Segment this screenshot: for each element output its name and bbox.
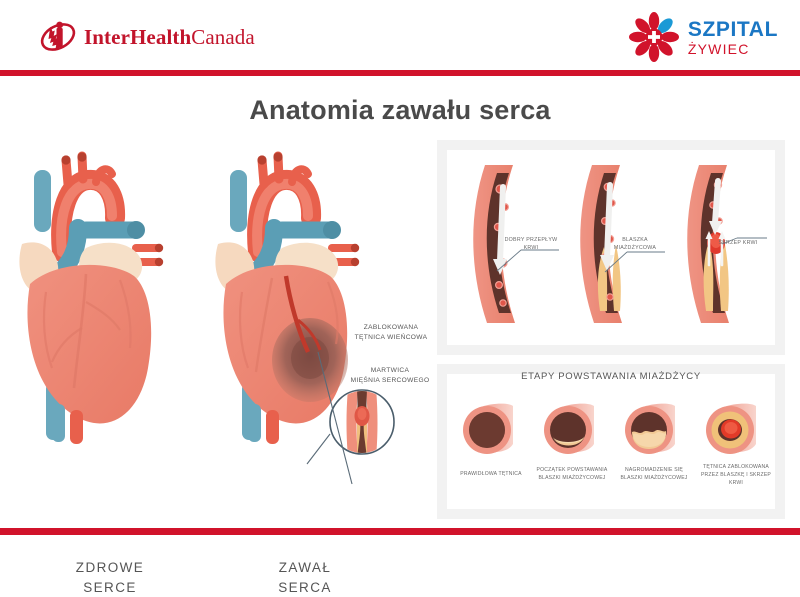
- necrosis-label-line2: MIĘŚNIA SERCOWEGO: [340, 376, 440, 386]
- healthy-caption-line2: SERCE: [20, 578, 200, 597]
- blocked-artery-label-line2: TĘTNICA WIEŃCOWA: [343, 333, 439, 343]
- hearts-section: ZDROWE SERCE ZAWAŁ SERCA: [0, 140, 440, 500]
- blocked-artery-label-line1: ZABLOKOWANA: [343, 323, 439, 333]
- plaque-line1: BLASZKA: [607, 236, 663, 244]
- page-title: Anatomia zawału serca: [0, 95, 800, 126]
- logo-word-light: Canada: [191, 25, 255, 49]
- necrosis-label-line1: MARTWICA: [340, 366, 440, 376]
- label-blood-clot: SKRZEP KRWI: [712, 239, 764, 247]
- normal-artery-cross-section: [463, 404, 513, 454]
- infarct-heart-caption: ZAWAŁ SERCA: [215, 558, 395, 597]
- plaque-buildup-cross-section: [625, 404, 675, 454]
- label-atherosclerotic-plaque: BLASZKA MIAŻDŻYCOWA: [607, 236, 663, 252]
- blocked-artery-cross-section: [706, 404, 756, 454]
- good-flow-line1: DOBRY PRZEPŁYW: [500, 236, 562, 244]
- szpital-logo-line1: SZPITAL: [688, 19, 778, 40]
- plaque-line2: MIAŻDŻYCOWA: [607, 244, 663, 252]
- early-plaque-cross-section: [544, 404, 594, 454]
- label-blocked-artery: TĘTNICA ZABLOKOWANA PRZEZ BLASZKĘ I SKRZ…: [694, 463, 778, 487]
- label-good-blood-flow: DOBRY PRZEPŁYW KRWI: [500, 236, 562, 252]
- healthy-caption-line1: ZDROWE: [20, 558, 200, 578]
- szpital-zywiec-logo: SZPITAL ŻYWIEC: [629, 12, 778, 62]
- label-blocked-coronary-artery: ZABLOKOWANA TĘTNICA WIEŃCOWA: [343, 323, 439, 343]
- szpital-logo-text: SZPITAL ŻYWIEC: [688, 19, 778, 56]
- interhealth-logo-text: InterHealthCanada: [84, 25, 255, 50]
- szpital-logo-line2: ŻYWIEC: [688, 42, 778, 56]
- clot-line1: SKRZEP KRWI: [712, 239, 764, 247]
- label-early-plaque: POCZĄTEK POWSTAWANIA BLASZKI MIAŻDŻYCOWE…: [533, 466, 611, 482]
- flower-cross-icon: [629, 12, 679, 62]
- healthy-heart-caption: ZDROWE SERCE: [20, 558, 200, 597]
- maple-leaf-orbit-icon: [38, 18, 78, 56]
- healthy-heart-illustration: [19, 152, 163, 444]
- infarct-caption-line1: ZAWAŁ: [215, 558, 395, 578]
- good-flow-line2: KRWI: [500, 244, 562, 252]
- label-myocardial-necrosis: MARTWICA MIĘŚNIA SERCOWEGO: [340, 366, 440, 386]
- interhealth-canada-logo: InterHealthCanada: [38, 18, 255, 56]
- header-red-rule: [0, 70, 800, 76]
- label-normal-artery: PRAWIDŁOWA TĘTNICA: [452, 470, 530, 478]
- logo-word-bold: InterHealth: [84, 25, 191, 49]
- label-plaque-buildup: NAGROMADZENIE SIĘ BLASZKI MIAŻDŻYCOWEJ: [614, 466, 694, 482]
- header-bar: InterHealthCanada: [0, 0, 800, 70]
- infarct-caption-line2: SERCA: [215, 578, 395, 597]
- atherosclerosis-panel-title: ETAPY POWSTAWANIA MIAŻDŻYCY: [437, 371, 785, 382]
- infographic-page: InterHealthCanada: [0, 0, 800, 541]
- footer-red-rule: [0, 528, 800, 535]
